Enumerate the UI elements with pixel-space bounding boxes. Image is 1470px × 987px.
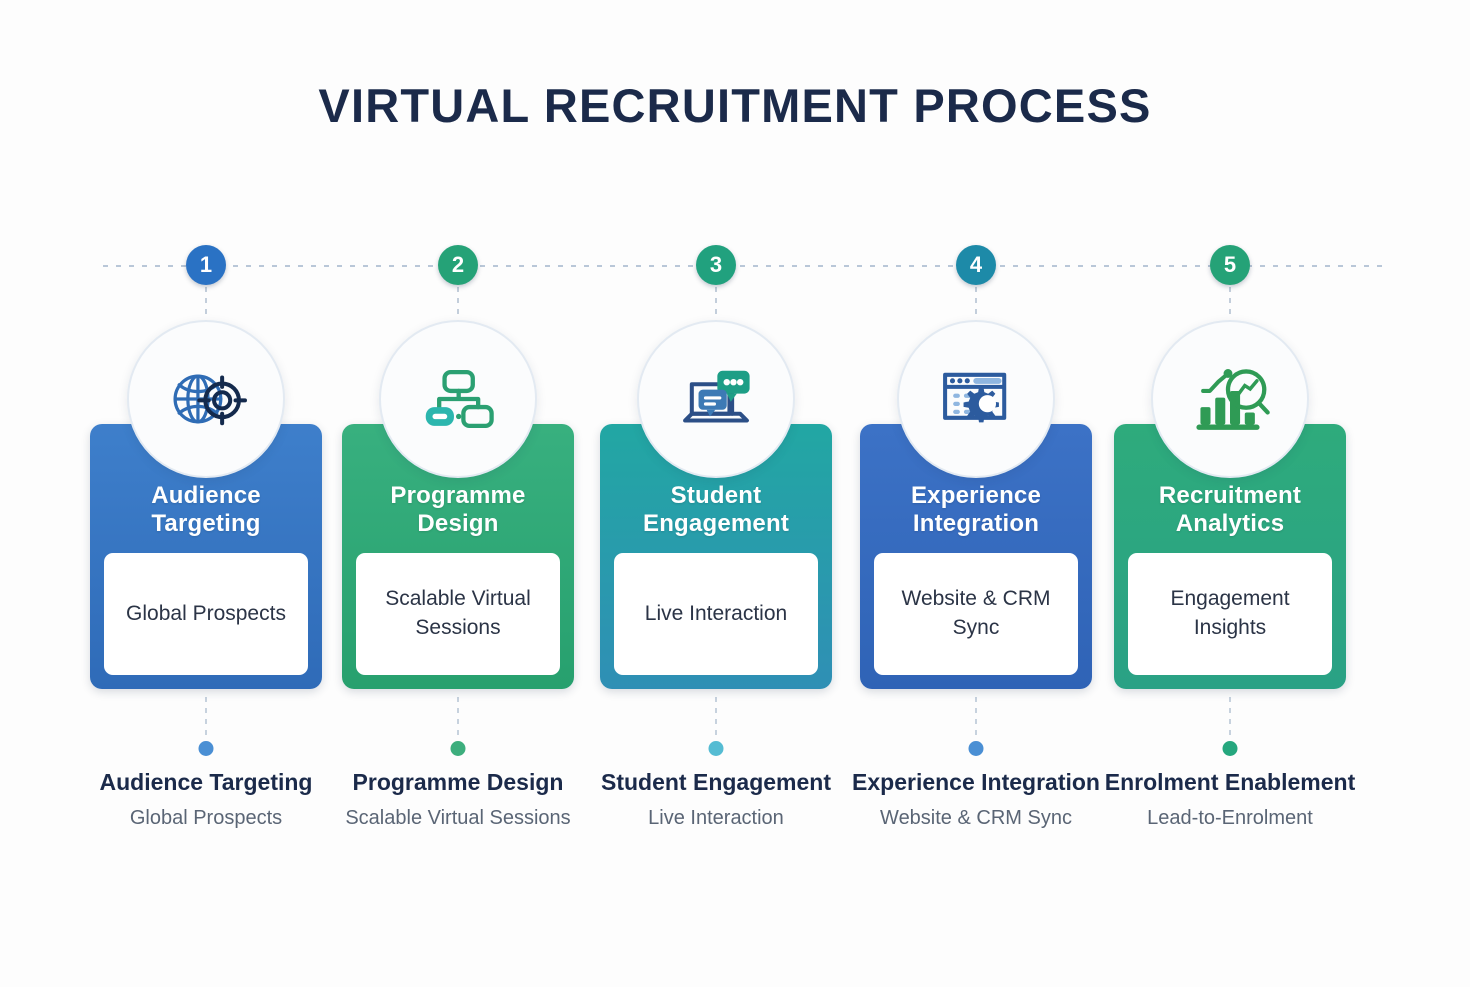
step-card-detail-box: Engagement Insights	[1128, 553, 1332, 675]
legend-subtitle: Global Prospects	[78, 805, 334, 833]
legend-title: Enrolment Enablement	[1102, 768, 1358, 796]
step-card-title: Student Engagement	[612, 482, 820, 539]
legend-dot	[709, 741, 724, 756]
laptop-chat-icon	[673, 356, 759, 442]
hierarchy-chart-icon	[415, 356, 501, 442]
step-card-detail-box: Website & CRM Sync	[874, 553, 1078, 675]
legend-subtitle: Lead-to-Enrolment	[1102, 805, 1358, 833]
legend-item-5: Enrolment Enablement Lead-to-Enrolment	[1102, 768, 1358, 833]
step-card-detail: Scalable Virtual Sessions	[366, 585, 550, 643]
legend-title: Programme Design	[330, 768, 586, 796]
step-card-detail: Engagement Insights	[1138, 585, 1322, 643]
legend-title: Experience Integration	[848, 768, 1104, 796]
legend-title: Audience Targeting	[78, 768, 334, 796]
step-card-detail-box: Scalable Virtual Sessions	[356, 553, 560, 675]
step-badge-number: 4	[970, 252, 982, 278]
step-badge-3[interactable]: 3	[696, 245, 736, 285]
step-column-1: 1	[90, 0, 322, 987]
step-column-2: 2 Programme Design Scala	[342, 0, 574, 987]
step-badge-number: 2	[452, 252, 464, 278]
legend-connector	[205, 697, 207, 739]
step-icon-circle-4	[897, 320, 1055, 478]
step-card-detail-box: Global Prospects	[104, 553, 308, 675]
step-column-5: 5	[1114, 0, 1346, 987]
legend-dot	[1223, 741, 1238, 756]
step-card-detail-box: Live Interaction	[614, 553, 818, 675]
browser-gear-icon	[933, 356, 1019, 442]
step-card-title: Programme Design	[354, 482, 562, 539]
infographic-canvas: VIRTUAL RECRUITMENT PROCESS 1	[0, 0, 1470, 987]
legend-connector	[457, 697, 459, 739]
legend-item-3: Student Engagement Live Interaction	[588, 768, 844, 833]
step-column-4: 4	[860, 0, 1092, 987]
legend-item-1: Audience Targeting Global Prospects	[78, 768, 334, 833]
legend-subtitle: Website & CRM Sync	[848, 805, 1104, 833]
legend-dot	[969, 741, 984, 756]
legend-subtitle: Scalable Virtual Sessions	[330, 805, 586, 833]
legend-connector	[975, 697, 977, 739]
step-badge-number: 5	[1224, 252, 1236, 278]
step-card-title: Recruitment Analytics	[1126, 482, 1334, 539]
legend-dot	[451, 741, 466, 756]
step-column-3: 3	[600, 0, 832, 987]
step-badge-5[interactable]: 5	[1210, 245, 1250, 285]
step-card-detail: Live Interaction	[645, 600, 787, 629]
step-icon-circle-3	[637, 320, 795, 478]
legend-subtitle: Live Interaction	[588, 805, 844, 833]
legend-connector	[1229, 697, 1231, 739]
globe-target-icon	[163, 356, 249, 442]
step-card-title: Audience Targeting	[102, 482, 310, 539]
step-icon-circle-5	[1151, 320, 1309, 478]
step-badge-number: 1	[200, 252, 212, 278]
legend-connector	[715, 697, 717, 739]
legend-dot	[199, 741, 214, 756]
analytics-magnifier-icon	[1187, 356, 1273, 442]
legend-item-2: Programme Design Scalable Virtual Sessio…	[330, 768, 586, 833]
step-card-detail: Global Prospects	[126, 600, 286, 629]
step-card-detail: Website & CRM Sync	[884, 585, 1068, 643]
step-icon-circle-2	[379, 320, 537, 478]
steps-container: 1	[0, 0, 1470, 987]
step-badge-number: 3	[710, 252, 722, 278]
legend-item-4: Experience Integration Website & CRM Syn…	[848, 768, 1104, 833]
step-badge-1[interactable]: 1	[186, 245, 226, 285]
step-icon-circle-1	[127, 320, 285, 478]
legend-title: Student Engagement	[588, 768, 844, 796]
step-card-title: Experience Integration	[872, 482, 1080, 539]
step-badge-4[interactable]: 4	[956, 245, 996, 285]
step-badge-2[interactable]: 2	[438, 245, 478, 285]
